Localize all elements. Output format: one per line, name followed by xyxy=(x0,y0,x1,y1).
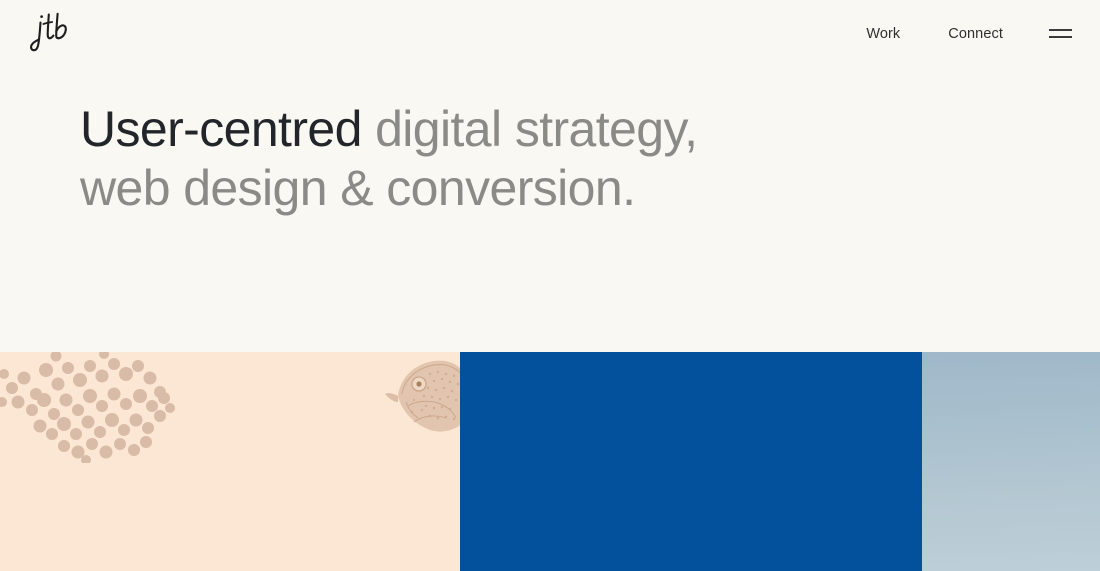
nav-link-work[interactable]: Work xyxy=(866,20,900,48)
site-header: Work Connect xyxy=(0,0,1100,67)
hero-section: User-centred digital strategy, web desig… xyxy=(0,100,1100,217)
panel-sky-gradient[interactable] xyxy=(922,352,1100,571)
hero-headline-line-2: web design & conversion. xyxy=(80,159,1020,217)
watermark-layer xyxy=(0,352,460,571)
hamburger-line-bottom xyxy=(1049,36,1072,38)
panel-solid-blue[interactable] xyxy=(460,352,922,571)
homepage-root: Work Connect User-centred digital strate… xyxy=(0,0,1100,571)
nav-link-connect[interactable]: Connect xyxy=(948,20,1003,48)
hamburger-menu-icon[interactable] xyxy=(1049,23,1075,45)
hero-headline-light-1: digital strategy, xyxy=(362,101,698,157)
hamburger-line-top xyxy=(1049,29,1072,31)
hero-headline-line-1: User-centred digital strategy, xyxy=(80,100,1020,158)
primary-navigation: Work Connect xyxy=(818,20,1075,48)
jtb-script-logo[interactable] xyxy=(20,4,80,59)
panel-peach-fish-dots[interactable] xyxy=(0,352,460,571)
logo-mark-icon xyxy=(20,4,80,59)
featured-work-image-strip xyxy=(0,352,1100,571)
hero-headline-emphasis: User-centred xyxy=(80,101,362,157)
